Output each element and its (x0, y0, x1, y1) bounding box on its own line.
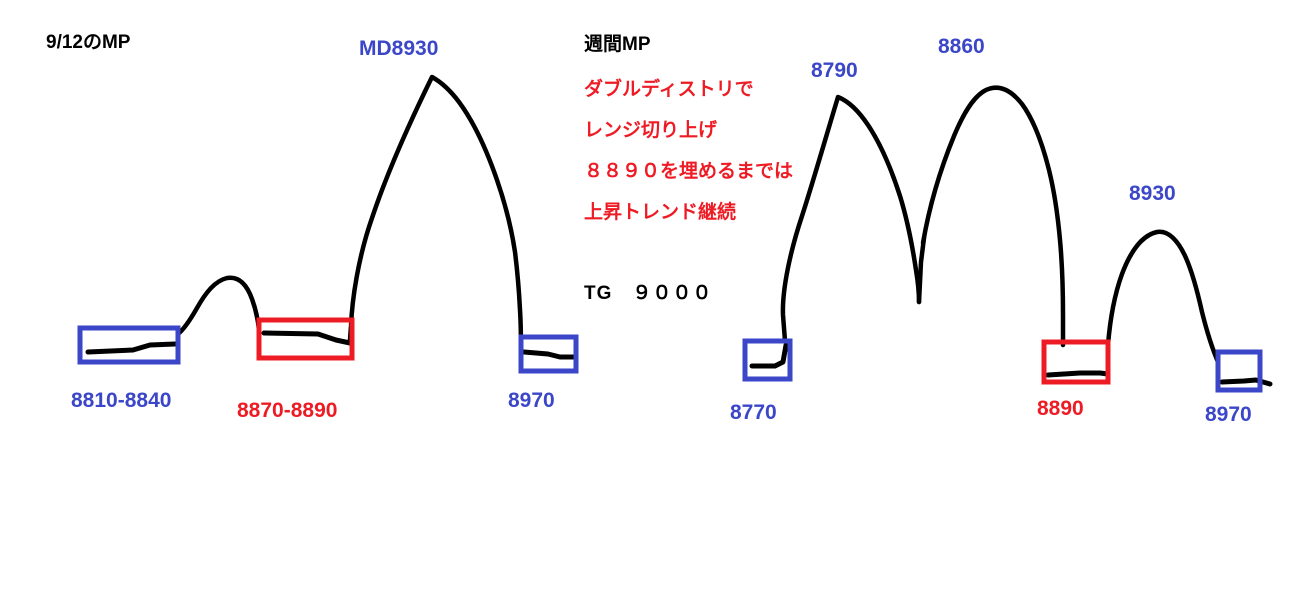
right-second-peak-path (923, 88, 1063, 345)
zone-label-8810-8840: 8810-8840 (71, 390, 171, 411)
left-box3-inner-line (524, 352, 574, 357)
annotation-line-1: ダブルディストリで (584, 80, 754, 99)
left-main-arc-path (350, 77, 521, 352)
peak-label-md8930: MD8930 (359, 38, 438, 59)
right-first-peak-path (783, 97, 919, 341)
left-box1-inner-line (88, 344, 175, 352)
zone-label-8870-8890: 8870-8890 (237, 400, 337, 421)
zone-box-layer (80, 320, 1260, 390)
target-label: TG ９０００ (584, 284, 712, 303)
peak-label-8930: 8930 (1129, 183, 1176, 204)
right-box8890-inner-line (1048, 373, 1108, 375)
zone-label-8770: 8770 (730, 402, 777, 423)
page-title-right: 週間MP (584, 35, 651, 54)
right-box8770-inner-line (752, 345, 786, 366)
zone-label-8890: 8890 (1037, 398, 1084, 419)
right-third-peak-path (1108, 232, 1218, 362)
whiteboard-canvas: 9/12のMP 週間MP ダブルディストリで レンジ切り上げ ８８９０を埋めるま… (0, 0, 1302, 606)
zone-label-8970-left: 8970 (508, 390, 555, 411)
left-small-hump-path (178, 278, 259, 334)
left-box2-inner-line (264, 333, 350, 343)
page-title-left: 9/12のMP (46, 33, 130, 52)
peak-label-8860: 8860 (938, 36, 985, 57)
annotation-line-4: 上昇トレンド継続 (584, 203, 736, 222)
annotation-line-3: ８８９０を埋めるまでは (584, 162, 793, 181)
right-trough-spike-path (919, 238, 924, 302)
peak-label-8790: 8790 (811, 60, 858, 81)
annotation-line-2: レンジ切り上げ (584, 121, 717, 140)
zone-label-8970-right: 8970 (1205, 404, 1252, 425)
right-box8970-inner-line (1222, 380, 1270, 384)
